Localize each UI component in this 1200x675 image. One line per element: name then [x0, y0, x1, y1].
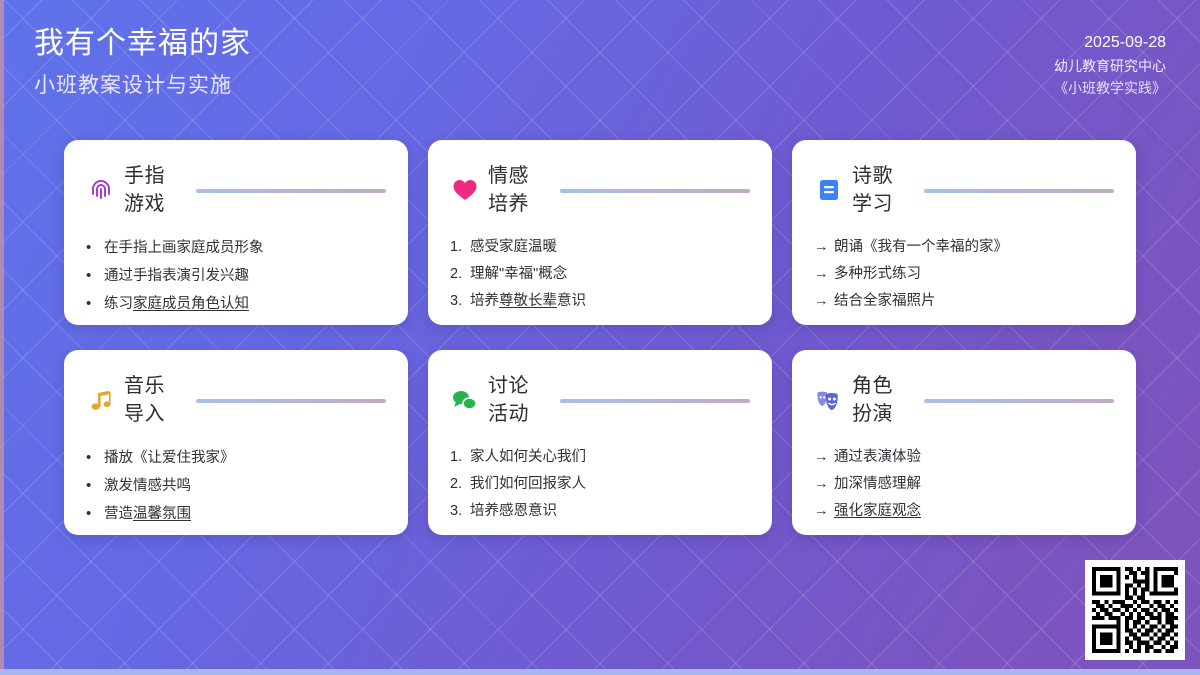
list-item: 3.培养尊敬长辈意识: [450, 288, 750, 315]
list-item-marker: →: [814, 261, 834, 288]
activity-card: 讨论活动1.家人如何关心我们2.我们如何回报家人3.培养感恩意识: [428, 350, 772, 535]
list-item: 1.感受家庭温暖: [450, 234, 750, 261]
card-title-line-1: 音乐: [124, 372, 182, 400]
list-item-text: 结合全家福照片: [834, 288, 936, 315]
qr-code-canvas: [1092, 567, 1178, 653]
list-item-text: 多种形式练习: [834, 261, 921, 288]
list-item: 2.我们如何回报家人: [450, 471, 750, 498]
page-subtitle: 小班教案设计与实施: [34, 70, 251, 102]
list-item: 2.理解"幸福"概念: [450, 261, 750, 288]
header-title-block: 我有个幸福的家 小班教案设计与实施: [34, 24, 251, 102]
card-divider: [196, 189, 386, 193]
card-header: 角色扮演: [814, 366, 1114, 434]
list-item-text: 在手指上画家庭成员形象: [104, 235, 264, 262]
activity-card: 音乐导入•播放《让爱住我家》•激发情感共鸣•营造温馨氛围: [64, 350, 408, 535]
list-item-marker: 2.: [450, 261, 470, 288]
list-item-text: 加深情感理解: [834, 471, 921, 498]
qr-code[interactable]: [1085, 560, 1185, 660]
list-item-marker: 1.: [450, 444, 470, 471]
list-item-text: 培养尊敬长辈意识: [470, 288, 586, 315]
list-item-marker: 1.: [450, 234, 470, 261]
list-item-highlight: 家庭成员角色认知: [133, 296, 249, 312]
list-item: •播放《让爱住我家》: [86, 444, 386, 472]
meta-date: 2025-09-28: [1054, 31, 1166, 55]
activity-card: 角色扮演→通过表演体验→加深情感理解→强化家庭观念: [792, 350, 1136, 535]
card-item-list: •播放《让爱住我家》•激发情感共鸣•营造温馨氛围: [86, 444, 386, 528]
list-item: →通过表演体验: [814, 444, 1114, 471]
list-item-marker: •: [86, 290, 104, 317]
card-title-line-2: 扮演: [852, 400, 910, 428]
card-grid: 手指游戏•在手指上画家庭成员形象•通过手指表演引发兴趣•练习家庭成员角色认知情感…: [64, 140, 1136, 535]
card-divider: [924, 189, 1114, 193]
card-title-line-1: 诗歌: [852, 162, 910, 190]
card-divider: [924, 399, 1114, 403]
list-item-marker: •: [86, 444, 104, 471]
page-title: 我有个幸福的家: [34, 24, 251, 64]
list-item-text: 朗诵《我有一个幸福的家》: [834, 234, 1008, 261]
header-meta-block: 2025-09-28 幼儿教育研究中心 《小班教学实践》: [1054, 31, 1166, 99]
list-item-marker: →: [814, 288, 834, 315]
list-item-marker: 3.: [450, 498, 470, 525]
list-item-marker: →: [814, 444, 834, 471]
speech-bubbles-icon: [450, 385, 480, 415]
list-item-marker: 2.: [450, 471, 470, 498]
list-item-text: 我们如何回报家人: [470, 471, 586, 498]
list-item-text: 家人如何关心我们: [470, 444, 586, 471]
card-divider: [196, 399, 386, 403]
list-item: →结合全家福照片: [814, 288, 1114, 315]
card-title-line-2: 培养: [488, 190, 546, 218]
card-title-line-2: 游戏: [124, 190, 182, 218]
meta-organization: 幼儿教育研究中心: [1054, 55, 1166, 77]
card-divider: [560, 399, 750, 403]
card-header: 手指游戏: [86, 156, 386, 224]
list-item-text: 培养感恩意识: [470, 498, 557, 525]
card-title: 手指游戏: [124, 162, 182, 218]
list-item-text: 播放《让爱住我家》: [104, 445, 235, 472]
list-item-marker: →: [814, 471, 834, 498]
card-title: 情感培养: [488, 162, 546, 218]
list-item: →加深情感理解: [814, 471, 1114, 498]
list-item-text: 激发情感共鸣: [104, 473, 191, 500]
card-title: 角色扮演: [852, 372, 910, 428]
list-item-marker: 3.: [450, 288, 470, 315]
fingerprint-icon: [86, 175, 116, 205]
card-item-list: 1.家人如何关心我们2.我们如何回报家人3.培养感恩意识: [450, 444, 750, 525]
list-item: →多种形式练习: [814, 261, 1114, 288]
list-item-marker: •: [86, 500, 104, 527]
list-item-text: 通过表演体验: [834, 444, 921, 471]
card-item-list: •在手指上画家庭成员形象•通过手指表演引发兴趣•练习家庭成员角色认知: [86, 234, 386, 318]
list-item-highlight: 尊敬长辈: [499, 293, 557, 309]
card-header: 讨论活动: [450, 366, 750, 434]
card-item-list: →通过表演体验→加深情感理解→强化家庭观念: [814, 444, 1114, 525]
bottom-edge-strip: [0, 669, 1200, 675]
card-item-list: →朗诵《我有一个幸福的家》→多种形式练习→结合全家福照片: [814, 234, 1114, 315]
slide-header: 我有个幸福的家 小班教案设计与实施 2025-09-28 幼儿教育研究中心 《小…: [0, 0, 1200, 125]
list-item-text: 感受家庭温暖: [470, 234, 557, 261]
list-item-text: 强化家庭观念: [834, 498, 921, 525]
list-item: •通过手指表演引发兴趣: [86, 262, 386, 290]
heart-icon: [450, 175, 480, 205]
list-item-marker: →: [814, 498, 834, 525]
list-item: 1.家人如何关心我们: [450, 444, 750, 471]
card-title-line-1: 讨论: [488, 372, 546, 400]
list-item: 3.培养感恩意识: [450, 498, 750, 525]
card-title-line-1: 情感: [488, 162, 546, 190]
slide-root: 我有个幸福的家 小班教案设计与实施 2025-09-28 幼儿教育研究中心 《小…: [0, 0, 1200, 675]
card-item-list: 1.感受家庭温暖2.理解"幸福"概念3.培养尊敬长辈意识: [450, 234, 750, 315]
list-item-marker: •: [86, 472, 104, 499]
list-item-text: 通过手指表演引发兴趣: [104, 263, 249, 290]
list-item: →朗诵《我有一个幸福的家》: [814, 234, 1114, 261]
card-header: 诗歌学习: [814, 156, 1114, 224]
card-header: 情感培养: [450, 156, 750, 224]
list-item: •练习家庭成员角色认知: [86, 290, 386, 318]
card-title-line-2: 学习: [852, 190, 910, 218]
theater-masks-icon: [814, 385, 844, 415]
card-title: 诗歌学习: [852, 162, 910, 218]
card-header: 音乐导入: [86, 366, 386, 434]
card-title: 音乐导入: [124, 372, 182, 428]
music-note-icon: [86, 385, 116, 415]
list-item-highlight: 强化家庭观念: [834, 503, 921, 519]
activity-card: 手指游戏•在手指上画家庭成员形象•通过手指表演引发兴趣•练习家庭成员角色认知: [64, 140, 408, 325]
activity-card: 诗歌学习→朗诵《我有一个幸福的家》→多种形式练习→结合全家福照片: [792, 140, 1136, 325]
book-icon: [814, 175, 844, 205]
list-item: →强化家庭观念: [814, 498, 1114, 525]
list-item-marker: →: [814, 234, 834, 261]
meta-source: 《小班教学实践》: [1054, 77, 1166, 99]
card-title-line-2: 导入: [124, 400, 182, 428]
card-title: 讨论活动: [488, 372, 546, 428]
card-title-line-2: 活动: [488, 400, 546, 428]
list-item: •在手指上画家庭成员形象: [86, 234, 386, 262]
list-item-text: 营造温馨氛围: [104, 501, 191, 528]
list-item: •激发情感共鸣: [86, 472, 386, 500]
list-item: •营造温馨氛围: [86, 500, 386, 528]
list-item-marker: •: [86, 262, 104, 289]
card-title-line-1: 角色: [852, 372, 910, 400]
list-item-marker: •: [86, 234, 104, 261]
activity-card: 情感培养1.感受家庭温暖2.理解"幸福"概念3.培养尊敬长辈意识: [428, 140, 772, 325]
list-item-text: 练习家庭成员角色认知: [104, 291, 249, 318]
card-title-line-1: 手指: [124, 162, 182, 190]
list-item-highlight: 温馨氛围: [133, 506, 191, 522]
card-divider: [560, 189, 750, 193]
list-item-text: 理解"幸福"概念: [470, 261, 567, 288]
